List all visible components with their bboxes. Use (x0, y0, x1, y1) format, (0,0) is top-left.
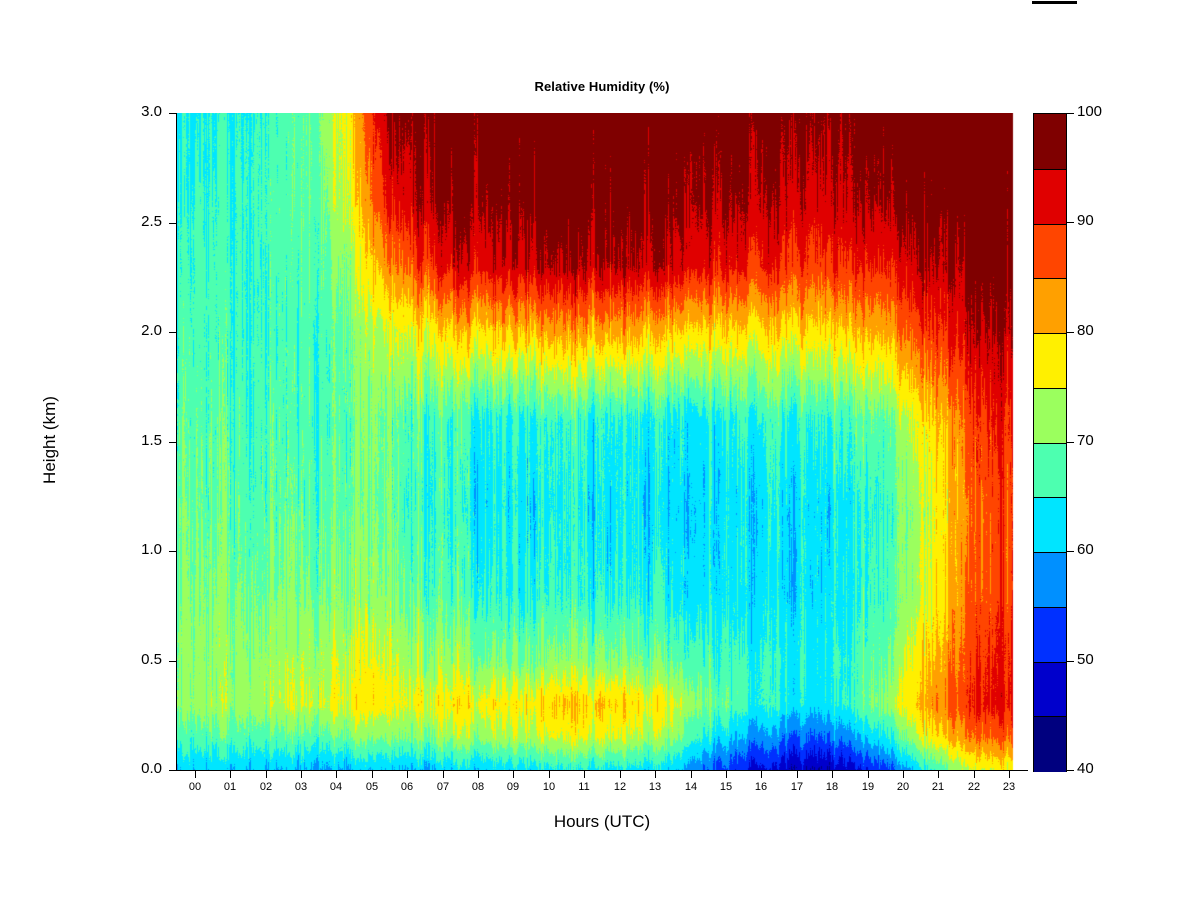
colorbar-band-separator (1034, 443, 1066, 444)
x-tick-mark (549, 771, 550, 778)
x-tick-mark (584, 771, 585, 778)
colorbar-band (1034, 333, 1066, 388)
y-tick-mark (169, 661, 176, 662)
y-tick-label: 1.5 (100, 432, 162, 449)
x-tick-label: 11 (569, 781, 599, 793)
x-tick-label: 16 (746, 781, 776, 793)
y-axis-title: Height (km) (40, 360, 60, 520)
top-artifact-bar (1032, 1, 1077, 4)
x-tick-label: 12 (605, 781, 635, 793)
x-axis-line (176, 770, 1028, 771)
x-tick-label: 10 (534, 781, 564, 793)
x-tick-label: 17 (782, 781, 812, 793)
y-tick-label: 1.0 (100, 541, 162, 558)
colorbar-band (1034, 662, 1066, 717)
x-tick-label: 09 (498, 781, 528, 793)
x-tick-mark (513, 771, 514, 778)
x-tick-mark (372, 771, 373, 778)
x-tick-mark (938, 771, 939, 778)
colorbar-tick-label: 40 (1077, 760, 1094, 777)
x-tick-mark (903, 771, 904, 778)
y-tick-mark (169, 442, 176, 443)
x-tick-label: 03 (286, 781, 316, 793)
x-tick-label: 00 (180, 781, 210, 793)
colorbar-band-separator (1034, 224, 1066, 225)
figure-canvas: Relative Humidity (%) 0.00.51.01.52.02.5… (0, 0, 1200, 900)
colorbar-tick-label: 100 (1077, 103, 1102, 120)
x-tick-label: 02 (251, 781, 281, 793)
colorbar-band (1034, 552, 1066, 607)
colorbar-band-separator (1034, 388, 1066, 389)
colorbar-band (1034, 443, 1066, 498)
colorbar-tick-mark (1066, 442, 1074, 443)
colorbar-tick-mark (1066, 661, 1074, 662)
y-tick-label: 2.0 (100, 322, 162, 339)
x-tick-label: 15 (711, 781, 741, 793)
y-tick-mark (169, 332, 176, 333)
y-tick-mark (169, 551, 176, 552)
colorbar-band-separator (1034, 497, 1066, 498)
humidity-field-canvas (177, 113, 1027, 770)
colorbar-band-separator (1034, 662, 1066, 663)
colorbar-band (1034, 497, 1066, 552)
colorbar-tick-label: 60 (1077, 541, 1094, 558)
colorbar-tick-mark (1066, 551, 1074, 552)
colorbar-band (1034, 716, 1066, 771)
x-tick-label: 07 (428, 781, 458, 793)
x-tick-mark (868, 771, 869, 778)
colorbar-band (1034, 388, 1066, 443)
y-tick-mark (169, 223, 176, 224)
x-tick-mark (974, 771, 975, 778)
x-axis-title: Hours (UTC) (177, 812, 1027, 832)
colorbar-tick-mark (1066, 770, 1074, 771)
x-tick-label: 06 (392, 781, 422, 793)
colorbar-tick-mark (1066, 222, 1074, 223)
page-title: Relative Humidity (%) (177, 79, 1027, 94)
colorbar-tick-label: 80 (1077, 322, 1094, 339)
colorbar-tick-mark (1066, 332, 1074, 333)
y-tick-mark (169, 770, 176, 771)
heatmap-plot-area (177, 113, 1027, 770)
colorbar-band-separator (1034, 169, 1066, 170)
x-tick-label: 18 (817, 781, 847, 793)
x-tick-label: 08 (463, 781, 493, 793)
x-tick-mark (620, 771, 621, 778)
colorbar-band-separator (1034, 278, 1066, 279)
x-tick-mark (407, 771, 408, 778)
colorbar-band-separator (1034, 607, 1066, 608)
x-tick-label: 22 (959, 781, 989, 793)
x-tick-label: 13 (640, 781, 670, 793)
colorbar-band-separator (1034, 552, 1066, 553)
x-tick-label: 04 (321, 781, 351, 793)
x-tick-label: 20 (888, 781, 918, 793)
x-tick-mark (230, 771, 231, 778)
colorbar (1033, 113, 1067, 772)
x-tick-mark (726, 771, 727, 778)
colorbar-tick-label: 90 (1077, 212, 1094, 229)
x-tick-label: 23 (994, 781, 1024, 793)
colorbar-band (1034, 169, 1066, 224)
x-tick-mark (195, 771, 196, 778)
colorbar-band-separator (1034, 333, 1066, 334)
colorbar-band (1034, 224, 1066, 279)
x-tick-label: 05 (357, 781, 387, 793)
x-tick-mark (655, 771, 656, 778)
x-tick-mark (761, 771, 762, 778)
y-tick-mark (169, 113, 176, 114)
x-tick-mark (266, 771, 267, 778)
x-tick-mark (832, 771, 833, 778)
x-tick-label: 14 (676, 781, 706, 793)
x-tick-mark (797, 771, 798, 778)
x-tick-mark (691, 771, 692, 778)
x-tick-mark (443, 771, 444, 778)
colorbar-tick-label: 70 (1077, 432, 1094, 449)
x-tick-mark (336, 771, 337, 778)
y-tick-label: 3.0 (100, 103, 162, 120)
y-tick-label: 0.0 (100, 760, 162, 777)
x-tick-mark (301, 771, 302, 778)
colorbar-band-separator (1034, 716, 1066, 717)
colorbar-tick-mark (1066, 113, 1074, 114)
colorbar-tick-label: 50 (1077, 651, 1094, 668)
colorbar-band (1034, 278, 1066, 333)
y-tick-label: 2.5 (100, 213, 162, 230)
colorbar-band (1034, 114, 1066, 169)
x-tick-label: 21 (923, 781, 953, 793)
x-tick-label: 19 (853, 781, 883, 793)
x-tick-label: 01 (215, 781, 245, 793)
colorbar-band (1034, 607, 1066, 662)
y-axis-line (176, 113, 177, 771)
x-tick-mark (478, 771, 479, 778)
x-tick-mark (1009, 771, 1010, 778)
y-tick-label: 0.5 (100, 651, 162, 668)
